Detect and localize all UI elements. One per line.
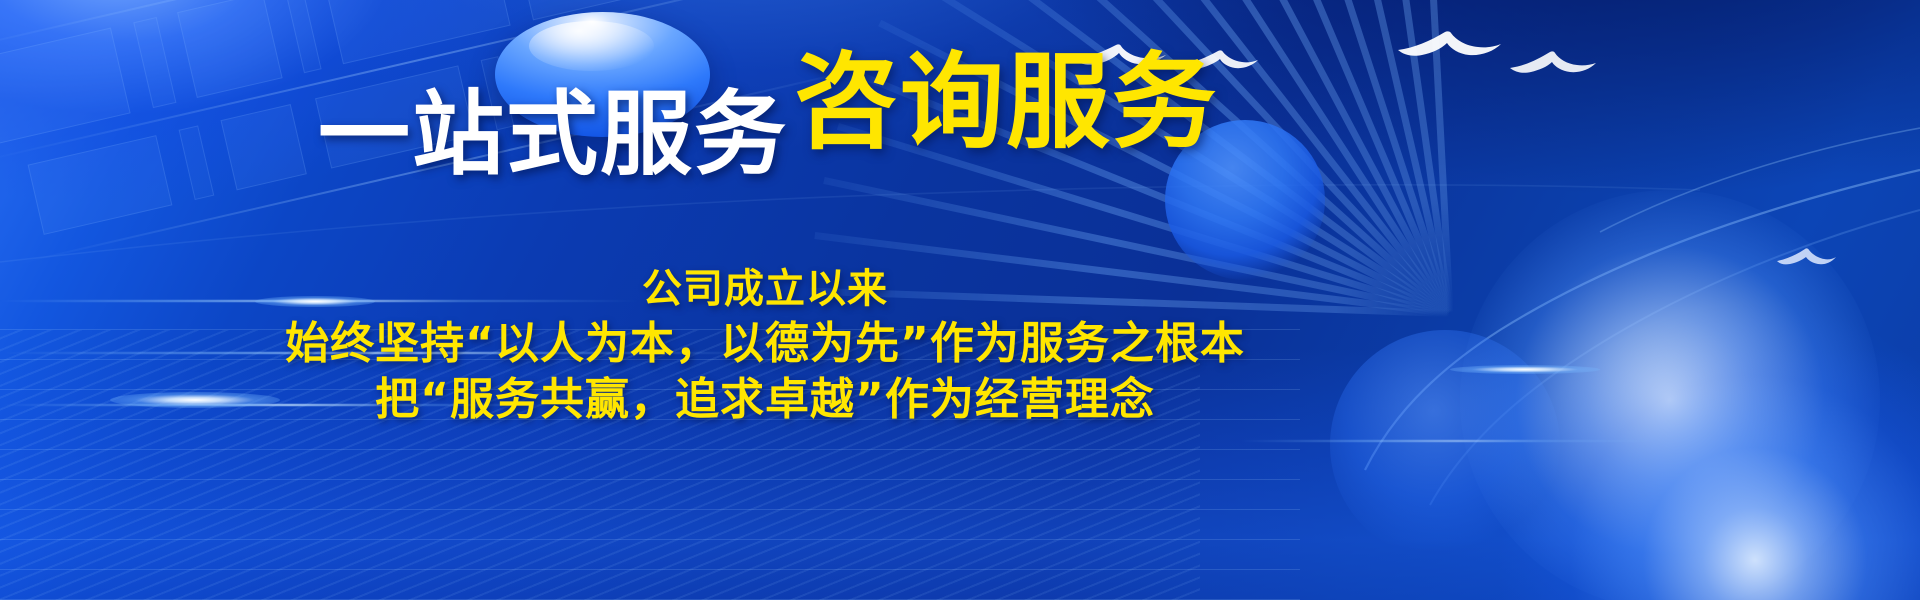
headline-primary-text: 一站式服务 <box>318 81 788 188</box>
seagull-icon-3 <box>1395 22 1503 62</box>
seagull-icon-5 <box>1775 244 1837 268</box>
subtitle-line-3: 把“服务共赢，追求卓越”作为经营理念 <box>0 372 1530 428</box>
subtitle-block: 公司成立以来 始终坚持“以人为本，以德为先”作为服务之根本 把“服务共赢，追求卓… <box>0 262 1530 428</box>
promo-banner: 一站式服务咨询服务 公司成立以来 始终坚持“以人为本，以德为先”作为服务之根本 … <box>0 0 1920 600</box>
subtitle-line-1: 公司成立以来 <box>0 262 1530 316</box>
seagull-icon-4 <box>1508 44 1598 78</box>
subtitle-line-2: 始终坚持“以人为本，以德为先”作为服务之根本 <box>0 316 1530 372</box>
light-streak-right <box>1240 440 1660 442</box>
headline: 一站式服务咨询服务 <box>0 78 1530 182</box>
headline-accent-text: 咨询服务 <box>794 41 1218 163</box>
